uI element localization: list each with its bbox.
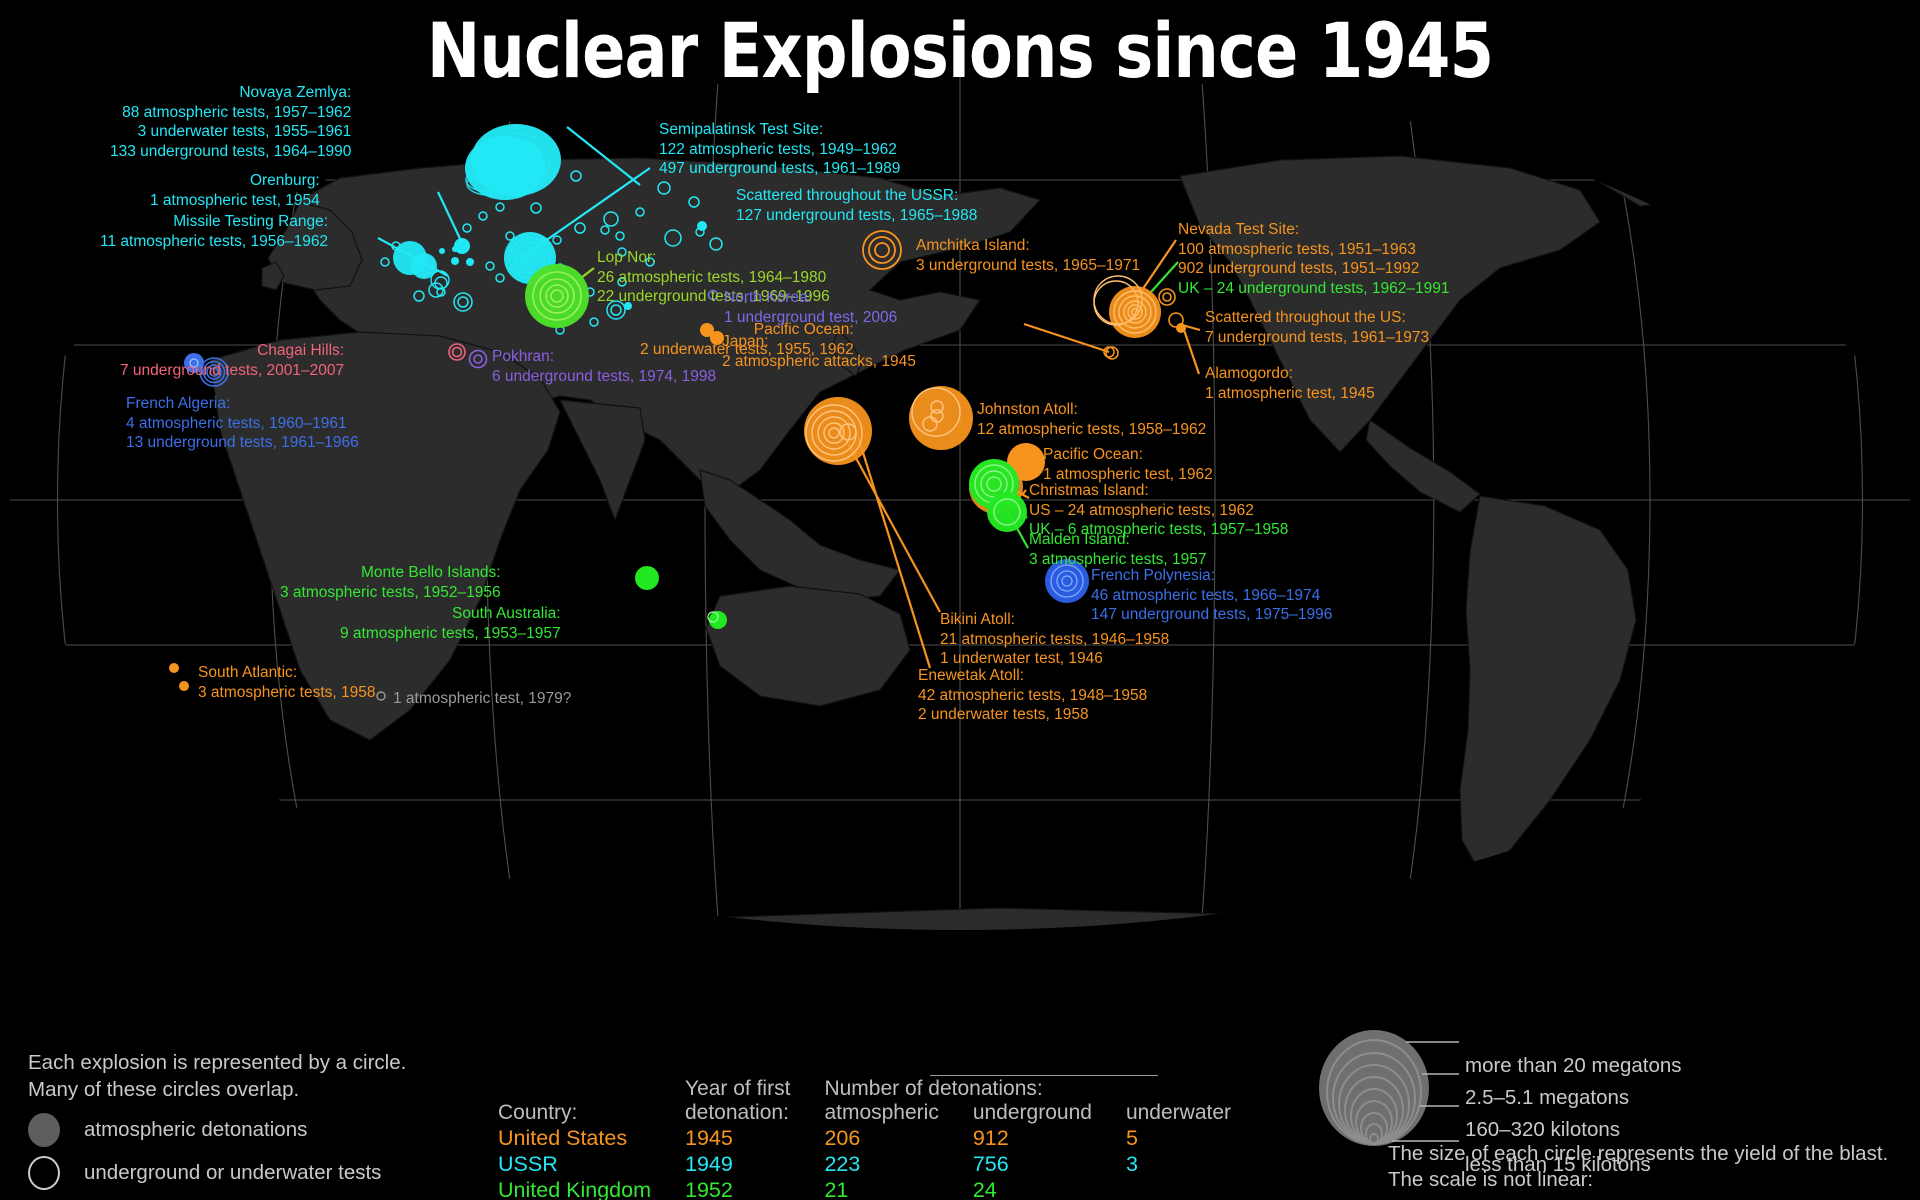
- country-cell: USSR: [498, 1152, 685, 1178]
- annotation-line-french-polynesia-0: 46 atmospheric tests, 1966–1974: [1091, 586, 1332, 606]
- size-key-note-line2: The scale is not linear:: [1388, 1167, 1908, 1194]
- atmospheric-cell: 21: [824, 1178, 972, 1200]
- yield-size-key: more than 20 megatons 2.5–5.1 megatons 1…: [1280, 1010, 1920, 1200]
- annotation-line-novaya-zemlya-0: 88 atmospheric tests, 1957–1962: [110, 103, 351, 123]
- annotation-orenburg: Orenburg:1 atmospheric test, 1954: [150, 171, 320, 210]
- filled-circle-icon: [28, 1113, 60, 1147]
- annotation-line-monte-bello-islands-0: 3 atmospheric tests, 1952–1956: [280, 583, 501, 603]
- country-cell: United Kingdom: [498, 1178, 685, 1200]
- table-row: United Kingdom19522124: [498, 1178, 1265, 1200]
- annotation-line-alamogordo-0: 1 atmospheric test, 1945: [1205, 384, 1375, 404]
- underground-cell: 24: [973, 1178, 1126, 1200]
- china-blast-circles: [525, 264, 589, 328]
- year-cell: 1952: [685, 1178, 824, 1200]
- annotation-chagai-hills: Chagai Hills:7 underground tests, 2001–2…: [120, 341, 344, 380]
- annotation-line-amchitka-island-0: 3 underground tests, 1965–1971: [916, 256, 1140, 276]
- annotation-title-malden-island: Malden Island:: [1029, 530, 1207, 550]
- table-header-row-1: Year of firstNumber of detonations:: [498, 1077, 1265, 1102]
- table-column-header-4: underwater: [1126, 1101, 1265, 1126]
- legend-intro-line2: Many of these circles overlap.: [28, 1076, 498, 1104]
- annotation-semipalatinsk-test-site: Semipalatinsk Test Site:122 atmospheric …: [659, 120, 900, 179]
- table-row: USSR19492237563: [498, 1152, 1265, 1178]
- amchitka-marker: [863, 231, 901, 269]
- annotation-line-south-australia-0: 9 atmospheric tests, 1953–1957: [340, 624, 561, 644]
- annotation-title-lop-nor: Lop Nor:: [597, 248, 830, 268]
- annotation-line-semipalatinsk-test-site-0: 122 atmospheric tests, 1949–1962: [659, 140, 900, 160]
- legend-description: Each explosion is represented by a circl…: [28, 1049, 498, 1190]
- annotation-bikini-atoll: Bikini Atoll:21 atmospheric tests, 1946–…: [940, 610, 1169, 669]
- annotation-line-scattered-ussr-0: 127 underground tests, 1965–1988: [736, 206, 977, 226]
- underwater-cell: 3: [1126, 1152, 1265, 1178]
- page-title: Nuclear Explosions since 1945: [154, 6, 1767, 95]
- annotation-title-french-algeria: French Algeria:: [126, 394, 359, 414]
- annotation-line-french-algeria-1: 13 underground tests, 1961–1966: [126, 433, 359, 453]
- underground-cell: 756: [973, 1152, 1126, 1178]
- annotation-scattered-ussr: Scattered throughout the USSR:127 underg…: [736, 186, 977, 225]
- annotation-line-unknown-1979-0: 1 atmospheric test, 1979?: [393, 689, 571, 709]
- table-header-top-2: Number of detonations:: [824, 1077, 1265, 1102]
- annotation-title-missile-testing-range: Missile Testing Range:: [100, 212, 328, 232]
- annotation-title-south-atlantic: South Atlantic:: [198, 663, 376, 683]
- legend-underground-label: underground or underwater tests: [84, 1159, 381, 1187]
- annotation-title-pacific-ocean-1962: Pacific Ocean:: [1043, 445, 1213, 465]
- atmospheric-cell: 206: [824, 1126, 972, 1152]
- legend-underground-row: underground or underwater tests: [28, 1156, 498, 1190]
- annotation-title-chagai-hills: Chagai Hills:: [120, 341, 344, 361]
- legend-atmospheric-label: atmospheric detonations: [84, 1116, 307, 1144]
- annotation-title-amchitka-island: Amchitka Island:: [916, 236, 1140, 256]
- size-key-note-line1: The size of each circle represents the y…: [1388, 1141, 1908, 1168]
- annotation-french-algeria: French Algeria:4 atmospheric tests, 1960…: [126, 394, 359, 453]
- annotation-line-bikini-atoll-0: 21 atmospheric tests, 1946–1958: [940, 630, 1169, 650]
- annotation-line-missile-testing-range-0: 11 atmospheric tests, 1956–1962: [100, 232, 328, 252]
- annotation-title-johnston-atoll: Johnston Atoll:: [977, 400, 1206, 420]
- annotation-title-novaya-zemlya: Novaya Zemlya:: [110, 83, 351, 103]
- annotation-johnston-atoll: Johnston Atoll:12 atmospheric tests, 195…: [977, 400, 1206, 439]
- annotation-title-pacific-ocean-1955: Pacific Ocean:: [640, 320, 854, 340]
- size-key-label-2: 160–320 kilotons: [1465, 1118, 1620, 1142]
- annotation-line-enewetak-atoll-1: 2 underwater tests, 1958: [918, 705, 1147, 725]
- annotation-title-christmas-island: Christmas Island:: [1029, 481, 1288, 501]
- annotation-enewetak-atoll: Enewetak Atoll:42 atmospheric tests, 194…: [918, 666, 1147, 725]
- annotation-title-orenburg: Orenburg:: [150, 171, 320, 191]
- annotation-title-north-korea: North Korea:: [724, 288, 897, 308]
- annotation-line-french-algeria-0: 4 atmospheric tests, 1960–1961: [126, 414, 359, 434]
- annotation-extra-nevada-test-site: UK – 24 underground tests, 1962–1991: [1178, 279, 1449, 299]
- annotation-novaya-zemlya: Novaya Zemlya:88 atmospheric tests, 1957…: [110, 83, 351, 161]
- annotation-title-scattered-ussr: Scattered throughout the USSR:: [736, 186, 977, 206]
- annotation-monte-bello-islands: Monte Bello Islands:3 atmospheric tests,…: [280, 563, 501, 602]
- annotation-line-lop-nor-0: 26 atmospheric tests, 1964–1980: [597, 268, 830, 288]
- stats-table: Year of firstNumber of detonations:Count…: [498, 1077, 1265, 1200]
- underwater-cell: 5: [1126, 1126, 1265, 1152]
- annotation-title-scattered-us: Scattered throughout the US:: [1205, 308, 1429, 328]
- annotation-malden-island: Malden Island:3 atmospheric tests, 1957: [1029, 530, 1207, 569]
- table-column-header-1: detonation:: [685, 1101, 824, 1126]
- south-asia-markers: [449, 344, 487, 368]
- country-statistics-table: Year of firstNumber of detonations:Count…: [498, 1077, 1265, 1200]
- annotation-pacific-ocean-1955: Pacific Ocean:2 underwater tests, 1955, …: [640, 320, 854, 359]
- size-key-label-0: more than 20 megatons: [1465, 1054, 1682, 1078]
- annotation-title-monte-bello-islands: Monte Bello Islands:: [280, 563, 501, 583]
- table-column-header-3: underground: [973, 1101, 1126, 1126]
- annotation-line-nevada-test-site-1: 902 underground tests, 1951–1992: [1178, 259, 1449, 279]
- annotation-line-scattered-us-0: 7 underground tests, 1961–1973: [1205, 328, 1429, 348]
- year-cell: 1949: [685, 1152, 824, 1178]
- annotation-alamogordo: Alamogordo:1 atmospheric test, 1945: [1205, 364, 1375, 403]
- annotation-title-nevada-test-site: Nevada Test Site:: [1178, 220, 1449, 240]
- annotation-line-enewetak-atoll-0: 42 atmospheric tests, 1948–1958: [918, 686, 1147, 706]
- annotation-south-australia: South Australia:9 atmospheric tests, 195…: [340, 604, 561, 643]
- annotation-line-nevada-test-site-0: 100 atmospheric tests, 1951–1963: [1178, 240, 1449, 260]
- detonations-underline: [930, 1075, 1158, 1076]
- table-row: United States19452069125: [498, 1126, 1265, 1152]
- annotation-title-semipalatinsk-test-site: Semipalatinsk Test Site:: [659, 120, 900, 140]
- legend-band: Each explosion is represented by a circl…: [0, 1010, 1920, 1200]
- table-column-header-2: atmospheric: [824, 1101, 972, 1126]
- underground-cell: 912: [973, 1126, 1126, 1152]
- annotation-nevada-test-site: Nevada Test Site:100 atmospheric tests, …: [1178, 220, 1449, 298]
- size-key-note: The size of each circle represents the y…: [1388, 1141, 1908, 1194]
- annotation-line-semipalatinsk-test-site-1: 497 underground tests, 1961–1989: [659, 159, 900, 179]
- country-cell: United States: [498, 1126, 685, 1152]
- annotation-south-atlantic: South Atlantic:3 atmospheric tests, 1958: [198, 663, 376, 702]
- open-circle-icon: [28, 1156, 60, 1190]
- uk-australia-blast-circles: [635, 566, 727, 629]
- annotation-line-christmas-island-0: US – 24 atmospheric tests, 1962: [1029, 501, 1288, 521]
- annotation-pacific-ocean-1962: Pacific Ocean:1 atmospheric test, 1962: [1043, 445, 1213, 484]
- table-header-top-1: Year of first: [685, 1077, 824, 1102]
- annotation-line-johnston-atoll-0: 12 atmospheric tests, 1958–1962: [977, 420, 1206, 440]
- annotation-missile-testing-range: Missile Testing Range:11 atmospheric tes…: [100, 212, 328, 251]
- annotation-title-south-australia: South Australia:: [340, 604, 561, 624]
- size-key-label-1: 2.5–5.1 megatons: [1465, 1086, 1629, 1110]
- underwater-cell: [1126, 1178, 1265, 1200]
- table-header-top-0: [498, 1077, 685, 1102]
- table-header-row-2: Country:detonation:atmosphericundergroun…: [498, 1101, 1265, 1126]
- annotation-line-pacific-ocean-1955-0: 2 underwater tests, 1955, 1962: [640, 340, 854, 360]
- year-cell: 1945: [685, 1126, 824, 1152]
- annotation-line-orenburg-0: 1 atmospheric test, 1954: [150, 191, 320, 211]
- annotation-line-south-atlantic-0: 3 atmospheric tests, 1958: [198, 683, 376, 703]
- annotation-unknown-1979: 1 atmospheric test, 1979?: [393, 689, 571, 709]
- annotation-title-bikini-atoll: Bikini Atoll:: [940, 610, 1169, 630]
- infographic-root: Nuclear Explosions since 1945 Novaya Zem…: [0, 0, 1920, 1200]
- legend-atmospheric-row: atmospheric detonations: [28, 1113, 498, 1147]
- annotation-title-enewetak-atoll: Enewetak Atoll:: [918, 666, 1147, 686]
- annotation-title-french-polynesia: French Polynesia:: [1091, 566, 1332, 586]
- annotation-scattered-us: Scattered throughout the US:7 undergroun…: [1205, 308, 1429, 347]
- annotation-line-chagai-hills-0: 7 underground tests, 2001–2007: [120, 361, 344, 381]
- annotation-line-pokhran-0: 6 underground tests, 1974, 1998: [492, 367, 716, 387]
- atmospheric-cell: 223: [824, 1152, 972, 1178]
- annotation-title-alamogordo: Alamogordo:: [1205, 364, 1375, 384]
- table-column-header-0: Country:: [498, 1101, 685, 1126]
- annotation-amchitka-island: Amchitka Island:3 underground tests, 196…: [916, 236, 1140, 275]
- legend-intro-line1: Each explosion is represented by a circl…: [28, 1049, 498, 1077]
- annotation-line-novaya-zemlya-1: 3 underwater tests, 1955–1961: [110, 122, 351, 142]
- annotation-line-novaya-zemlya-2: 133 underground tests, 1964–1990: [110, 142, 351, 162]
